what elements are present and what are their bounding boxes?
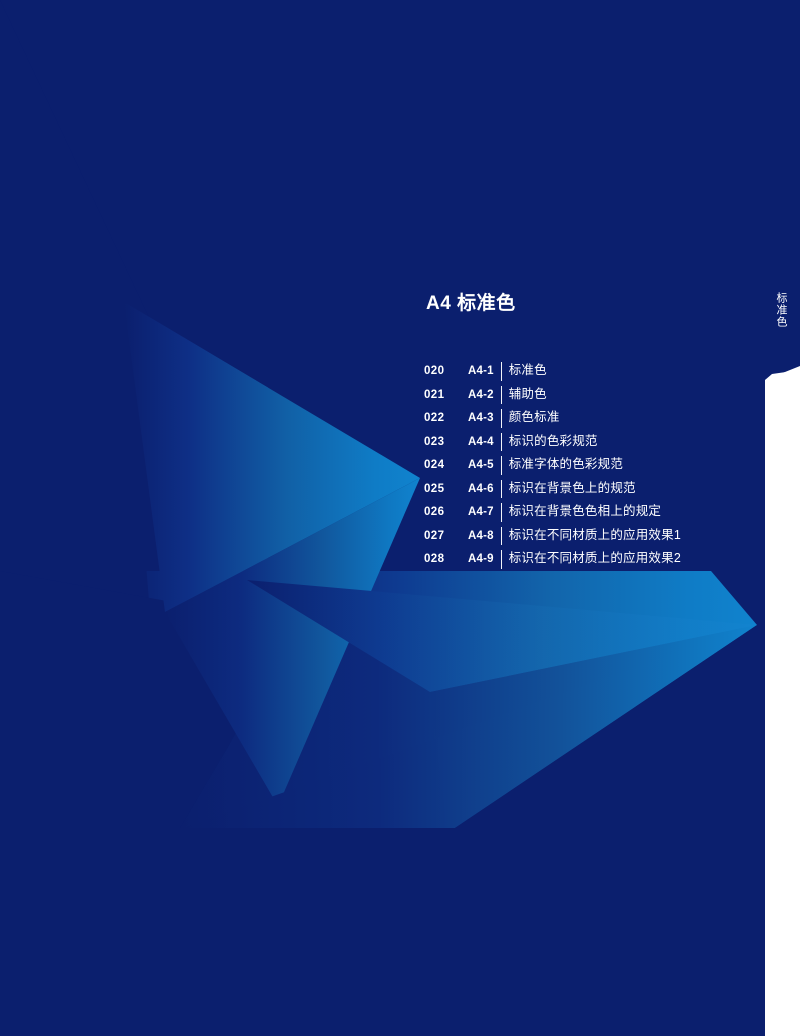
toc-separator <box>501 433 502 452</box>
toc-row[interactable]: 028 A4-9 标识在不同材质上的应用效果2 <box>424 547 744 571</box>
toc-number: 023 <box>424 436 468 448</box>
toc-label: 标准色 <box>502 359 547 378</box>
toc-label: 标识在不同材质上的应用效果1 <box>502 524 681 543</box>
toc-label: 标识的色彩规范 <box>502 430 598 449</box>
toc-number: 025 <box>424 483 468 495</box>
side-tab-label: 标准色 <box>766 292 788 328</box>
toc-label: 标准字体的色彩规范 <box>502 453 623 472</box>
toc-separator <box>501 362 502 381</box>
toc-row[interactable]: 025 A4-6 标识在背景色上的规范 <box>424 477 744 501</box>
toc-row[interactable]: 027 A4-8 标识在不同材质上的应用效果1 <box>424 524 744 548</box>
toc-row[interactable]: 021 A4-2 辅助色 <box>424 383 744 407</box>
toc-separator <box>501 527 502 546</box>
toc-row[interactable]: 024 A4-5 标准字体的色彩规范 <box>424 453 744 477</box>
toc-label: 颜色标准 <box>502 406 560 425</box>
toc-number: 024 <box>424 459 468 471</box>
toc-list: 020 A4-1 标准色 021 A4-2 辅助色 022 A4-3 颜色标准 … <box>424 359 744 571</box>
toc-code: A4-9 <box>468 553 501 565</box>
toc-code: A4-5 <box>468 459 501 471</box>
bg-mask-bottom <box>0 828 800 1036</box>
toc-separator <box>501 550 502 569</box>
toc-code: A4-6 <box>468 483 501 495</box>
toc-number: 020 <box>424 365 468 377</box>
toc-label: 标识在不同材质上的应用效果2 <box>502 547 681 566</box>
toc-row[interactable]: 022 A4-3 颜色标准 <box>424 406 744 430</box>
page-root: 标准色 A4 标准色 020 A4-1 标准色 021 A4-2 辅助色 022… <box>0 0 800 1036</box>
toc-number: 027 <box>424 530 468 542</box>
toc-separator <box>501 456 502 475</box>
toc-number: 022 <box>424 412 468 424</box>
toc-label: 辅助色 <box>502 383 547 402</box>
toc-code: A4-3 <box>468 412 501 424</box>
page-title: A4 标准色 <box>426 288 744 315</box>
toc-number: 021 <box>424 389 468 401</box>
toc-label: 标识在背景色色相上的规定 <box>502 500 661 519</box>
toc-row[interactable]: 023 A4-4 标识的色彩规范 <box>424 430 744 454</box>
toc-separator <box>501 386 502 405</box>
toc-code: A4-2 <box>468 389 501 401</box>
toc-row[interactable]: 026 A4-7 标识在背景色色相上的规定 <box>424 500 744 524</box>
toc-row[interactable]: 020 A4-1 标准色 <box>424 359 744 383</box>
content-column: A4 标准色 020 A4-1 标准色 021 A4-2 辅助色 022 A4-… <box>424 288 744 571</box>
toc-label: 标识在背景色上的规范 <box>502 477 636 496</box>
toc-number: 028 <box>424 553 468 565</box>
toc-code: A4-7 <box>468 506 501 518</box>
toc-code: A4-4 <box>468 436 501 448</box>
toc-number: 026 <box>424 506 468 518</box>
toc-separator <box>501 480 502 499</box>
toc-separator <box>501 503 502 522</box>
toc-code: A4-1 <box>468 365 501 377</box>
toc-separator <box>501 409 502 428</box>
toc-code: A4-8 <box>468 530 501 542</box>
